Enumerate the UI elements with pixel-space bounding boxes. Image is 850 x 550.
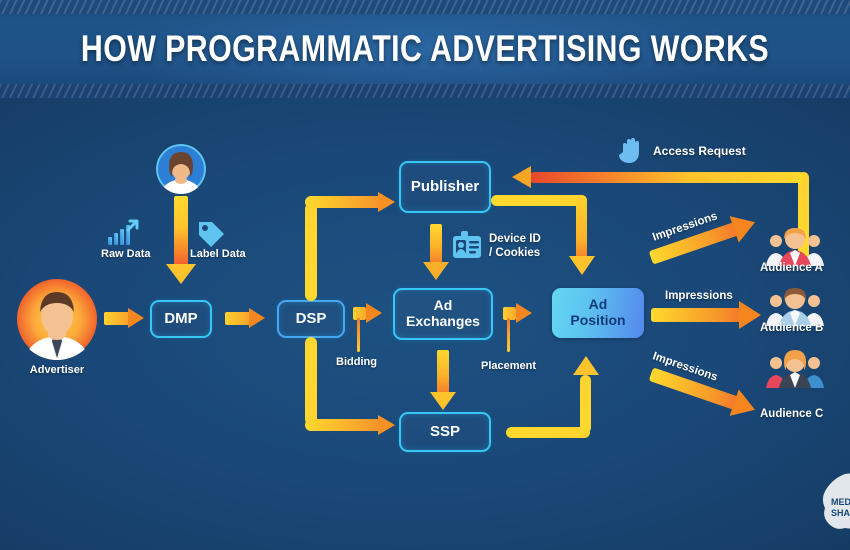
advertiser-avatar	[16, 278, 98, 360]
node-ad-exchanges[interactable]: Ad Exchanges	[393, 288, 493, 340]
access-request-label: Access Request	[653, 144, 746, 158]
advertiser-label: Advertiser	[16, 364, 98, 376]
label-data-label: Label Data	[190, 248, 246, 260]
people-group-icon	[764, 350, 826, 388]
node-publisher[interactable]: Publisher	[399, 161, 491, 213]
node-ad-position-line1: Ad	[589, 297, 608, 313]
node-ad-exchanges-line1: Ad	[434, 298, 453, 314]
svg-text:SHARK: SHARK	[831, 508, 850, 518]
id-badge-icon	[452, 231, 482, 259]
bidding-label: Bidding	[336, 356, 377, 368]
node-dsp[interactable]: DSP	[277, 300, 345, 338]
raw-data-label: Raw Data	[101, 248, 151, 260]
audience-c-group	[764, 350, 826, 393]
access-request-group	[619, 136, 643, 169]
arrow-impressions-audience-b	[651, 300, 771, 332]
impressions-b-label: Impressions	[665, 290, 733, 302]
audience-c-label: Audience C	[760, 408, 823, 420]
bar-chart-growth-icon	[106, 218, 142, 246]
node-ad-position-line2: Position	[570, 313, 625, 329]
node-dsp-label: DSP	[296, 311, 327, 328]
infographic-canvas: HOW PROGRAMMATIC ADVERTISING WORKS Adver…	[0, 0, 850, 550]
device-id-line2: / Cookies	[489, 247, 540, 259]
raw-data-group	[106, 218, 142, 251]
node-ssp-label: SSP	[430, 424, 460, 441]
audience-a-label: Audience A	[760, 262, 823, 274]
device-id-cookies-label: Device ID / Cookies	[489, 233, 569, 261]
media-shark-logo: MEDIA SHARK	[812, 472, 850, 542]
raised-hand-icon	[619, 136, 643, 164]
page-title: HOW PROGRAMMATIC ADVERTISING WORKS	[77, 0, 774, 98]
people-group-icon	[764, 228, 826, 266]
node-publisher-label: Publisher	[411, 179, 479, 196]
node-ssp[interactable]: SSP	[399, 412, 491, 452]
people-group-icon	[764, 288, 826, 326]
device-id-group	[452, 231, 482, 264]
tag-icon	[196, 219, 226, 247]
node-ad-position[interactable]: Ad Position	[552, 288, 644, 338]
node-dmp-label: DMP	[164, 311, 197, 328]
audience-b-label: Audience B	[760, 322, 823, 334]
node-dmp[interactable]: DMP	[150, 300, 212, 338]
data-user-avatar	[156, 144, 206, 194]
header-banner: HOW PROGRAMMATIC ADVERTISING WORKS	[0, 0, 850, 98]
device-id-line1: Device ID	[489, 233, 541, 245]
svg-text:MEDIA: MEDIA	[831, 497, 850, 507]
placement-label: Placement	[481, 360, 536, 372]
node-ad-exchanges-line2: Exchanges	[406, 314, 480, 330]
